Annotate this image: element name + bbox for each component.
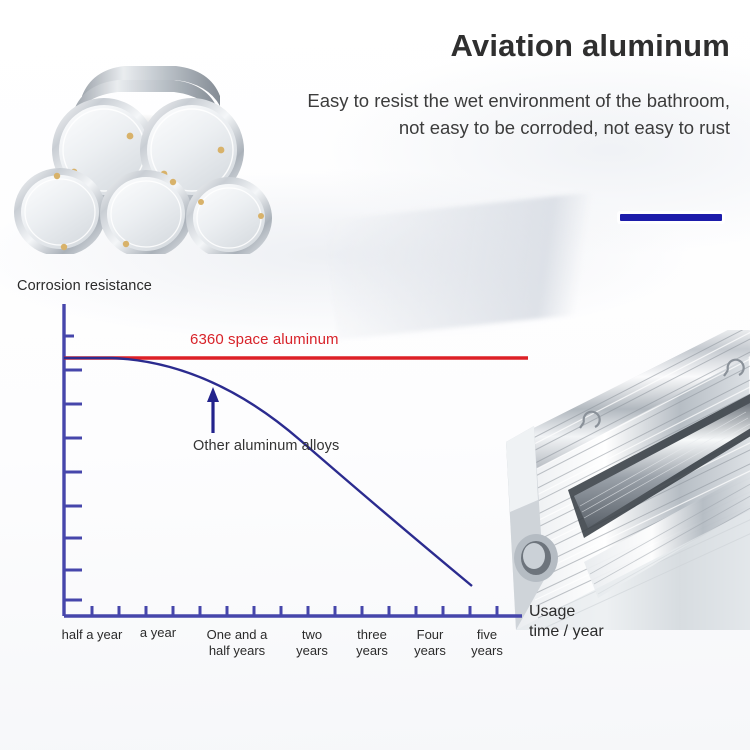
tick-line1: Four <box>404 627 456 643</box>
x-tick-label-two-years: two years <box>285 627 339 658</box>
x-axis-label-line1: Usage <box>529 602 604 622</box>
tick-line1: two <box>285 627 339 643</box>
tick-line1: five <box>462 627 512 643</box>
x-tick-label-half-a-year: half a year <box>46 627 138 643</box>
tick-line1: a year <box>128 625 188 641</box>
x-tick-label-one-and-a-half-years: One and a half years <box>192 627 282 658</box>
tick-line2: years <box>285 643 339 659</box>
x-tick-label-five-years: five years <box>462 627 512 658</box>
tick-line2: years <box>462 643 512 659</box>
tick-line1: One and a <box>192 627 282 643</box>
series-label-6360: 6360 space aluminum <box>190 331 339 348</box>
tick-line2: years <box>404 643 456 659</box>
x-tick-label-three-years: three years <box>344 627 400 658</box>
tick-line2: years <box>344 643 400 659</box>
tick-line1: three <box>344 627 400 643</box>
tick-line1: half a year <box>46 627 138 643</box>
page-subtitle: Easy to resist the wet environment of th… <box>300 88 730 142</box>
annotation-up-arrow <box>207 387 219 433</box>
page-root: Aviation aluminum Easy to resist the wet… <box>0 0 750 750</box>
x-axis-label-line2: time / year <box>529 622 604 642</box>
tick-line2: half years <box>192 643 282 659</box>
x-tick-label-four-years: Four years <box>404 627 456 658</box>
series-label-other-alloys: Other aluminum alloys <box>193 438 339 454</box>
x-tick-label-a-year: a year <box>128 625 188 641</box>
accent-bar <box>620 214 722 221</box>
page-title: Aviation aluminum <box>260 28 730 64</box>
chart-x-axis-label: Usage time / year <box>529 602 604 642</box>
series-other-aluminum-alloys <box>64 358 472 586</box>
aluminum-barrels-image <box>12 32 280 254</box>
chart-y-ticks <box>64 336 82 600</box>
